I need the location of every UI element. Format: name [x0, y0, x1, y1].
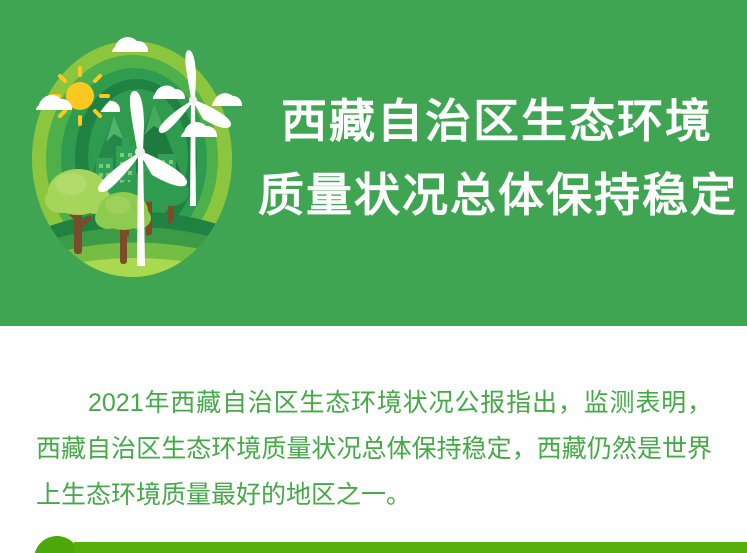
title-line-1: 西藏自治区生态环境: [258, 84, 736, 158]
body-paragraph: 2021年西藏自治区生态环境状况公报指出，监测表明，西藏自治区生态环境质量状况总…: [36, 380, 712, 518]
infographic-poster: 西藏自治区生态环境 质量状况总体保持稳定 2021年西藏自治区生态环境状况公报指…: [0, 0, 747, 553]
body-text-block: 2021年西藏自治区生态环境状况公报指出，监测表明，西藏自治区生态环境质量状况总…: [36, 355, 712, 543]
footer-decoration: [0, 536, 747, 553]
footer-green-bar: [74, 542, 747, 553]
title-line-2: 质量状况总体保持稳定: [258, 158, 736, 232]
sun-icon: [52, 68, 108, 124]
page-title: 西藏自治区生态环境 质量状况总体保持稳定: [258, 84, 736, 232]
eco-circle-illustration: [28, 34, 260, 284]
